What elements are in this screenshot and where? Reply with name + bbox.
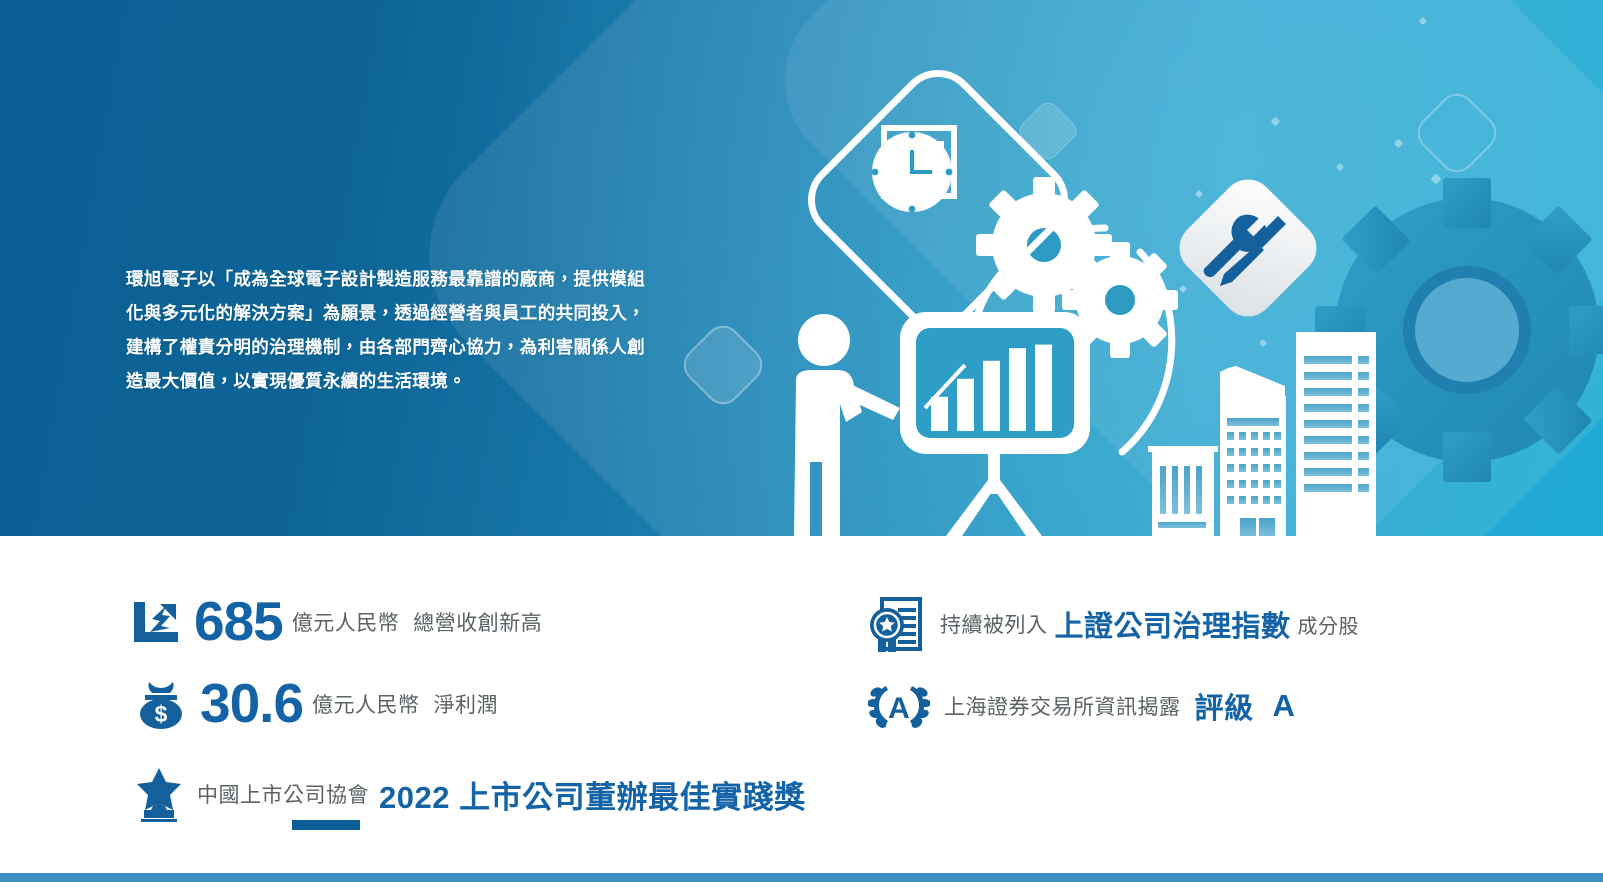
stat-unit: 億元人民幣 <box>312 689 420 719</box>
stat-disclosure-grade: A 上海證券交易所資訊揭露 評級 A <box>868 678 1296 734</box>
stat-unit: 億元人民幣 <box>292 607 400 637</box>
hero-paragraph: 環旭電子以「成為全球電子設計製造服務最靠譜的廠商，提供模組化與多元化的解決方案」… <box>126 262 646 398</box>
stat-label: 總營收創新高 <box>413 607 542 637</box>
laurel-a-icon: A <box>868 678 930 734</box>
tools-icon <box>1169 169 1327 327</box>
award-organization: 中國上市公司協會 <box>197 779 369 809</box>
svg-text:$: $ <box>155 701 168 727</box>
stat-label: 淨利潤 <box>434 689 499 719</box>
esg-governance-page: 環旭電子以「成為全球電子設計製造服務最靠譜的廠商，提供模組化與多元化的解決方案」… <box>0 0 1603 882</box>
disclosure-highlight: 評級 <box>1195 685 1254 727</box>
disclosure-grade: A <box>1273 688 1296 724</box>
index-highlight: 上證公司治理指數 <box>1055 603 1291 645</box>
stat-governance-index: 持續被列入 上證公司治理指數 成分股 <box>866 594 1359 654</box>
money-bag-icon: $ <box>136 678 186 730</box>
presenter-chart-icon <box>794 312 1090 536</box>
stat-value: 685 <box>194 594 283 649</box>
stats-section: 685 億元人民幣 總營收創新高 $ 30.6 億元人民幣 淨利潤 <box>0 536 1603 866</box>
stat-revenue: 685 億元人民幣 總營收創新高 <box>128 594 542 649</box>
page-marker <box>292 820 360 830</box>
footer-bar <box>0 873 1603 882</box>
buildings-icon <box>1148 332 1376 536</box>
certificate-medal-icon <box>866 594 926 654</box>
star-trophy-icon <box>133 766 185 822</box>
award-title: 2022 上市公司董辦最佳實踐獎 <box>379 772 806 817</box>
stat-value: 30.6 <box>200 676 303 731</box>
index-lead-text: 持續被列入 <box>940 609 1048 639</box>
stat-net-profit: $ 30.6 億元人民幣 淨利潤 <box>136 676 498 731</box>
stat-award: 中國上市公司協會 2022 上市公司董辦最佳實踐獎 <box>133 766 806 822</box>
disclosure-lead-text: 上海證券交易所資訊揭露 <box>944 691 1181 721</box>
hero-banner: 環旭電子以「成為全球電子設計製造服務最靠譜的廠商，提供模組化與多元化的解決方案」… <box>0 0 1603 536</box>
growth-arrow-icon <box>128 598 180 646</box>
index-tail-text: 成分股 <box>1298 610 1360 639</box>
svg-text:A: A <box>888 692 910 725</box>
